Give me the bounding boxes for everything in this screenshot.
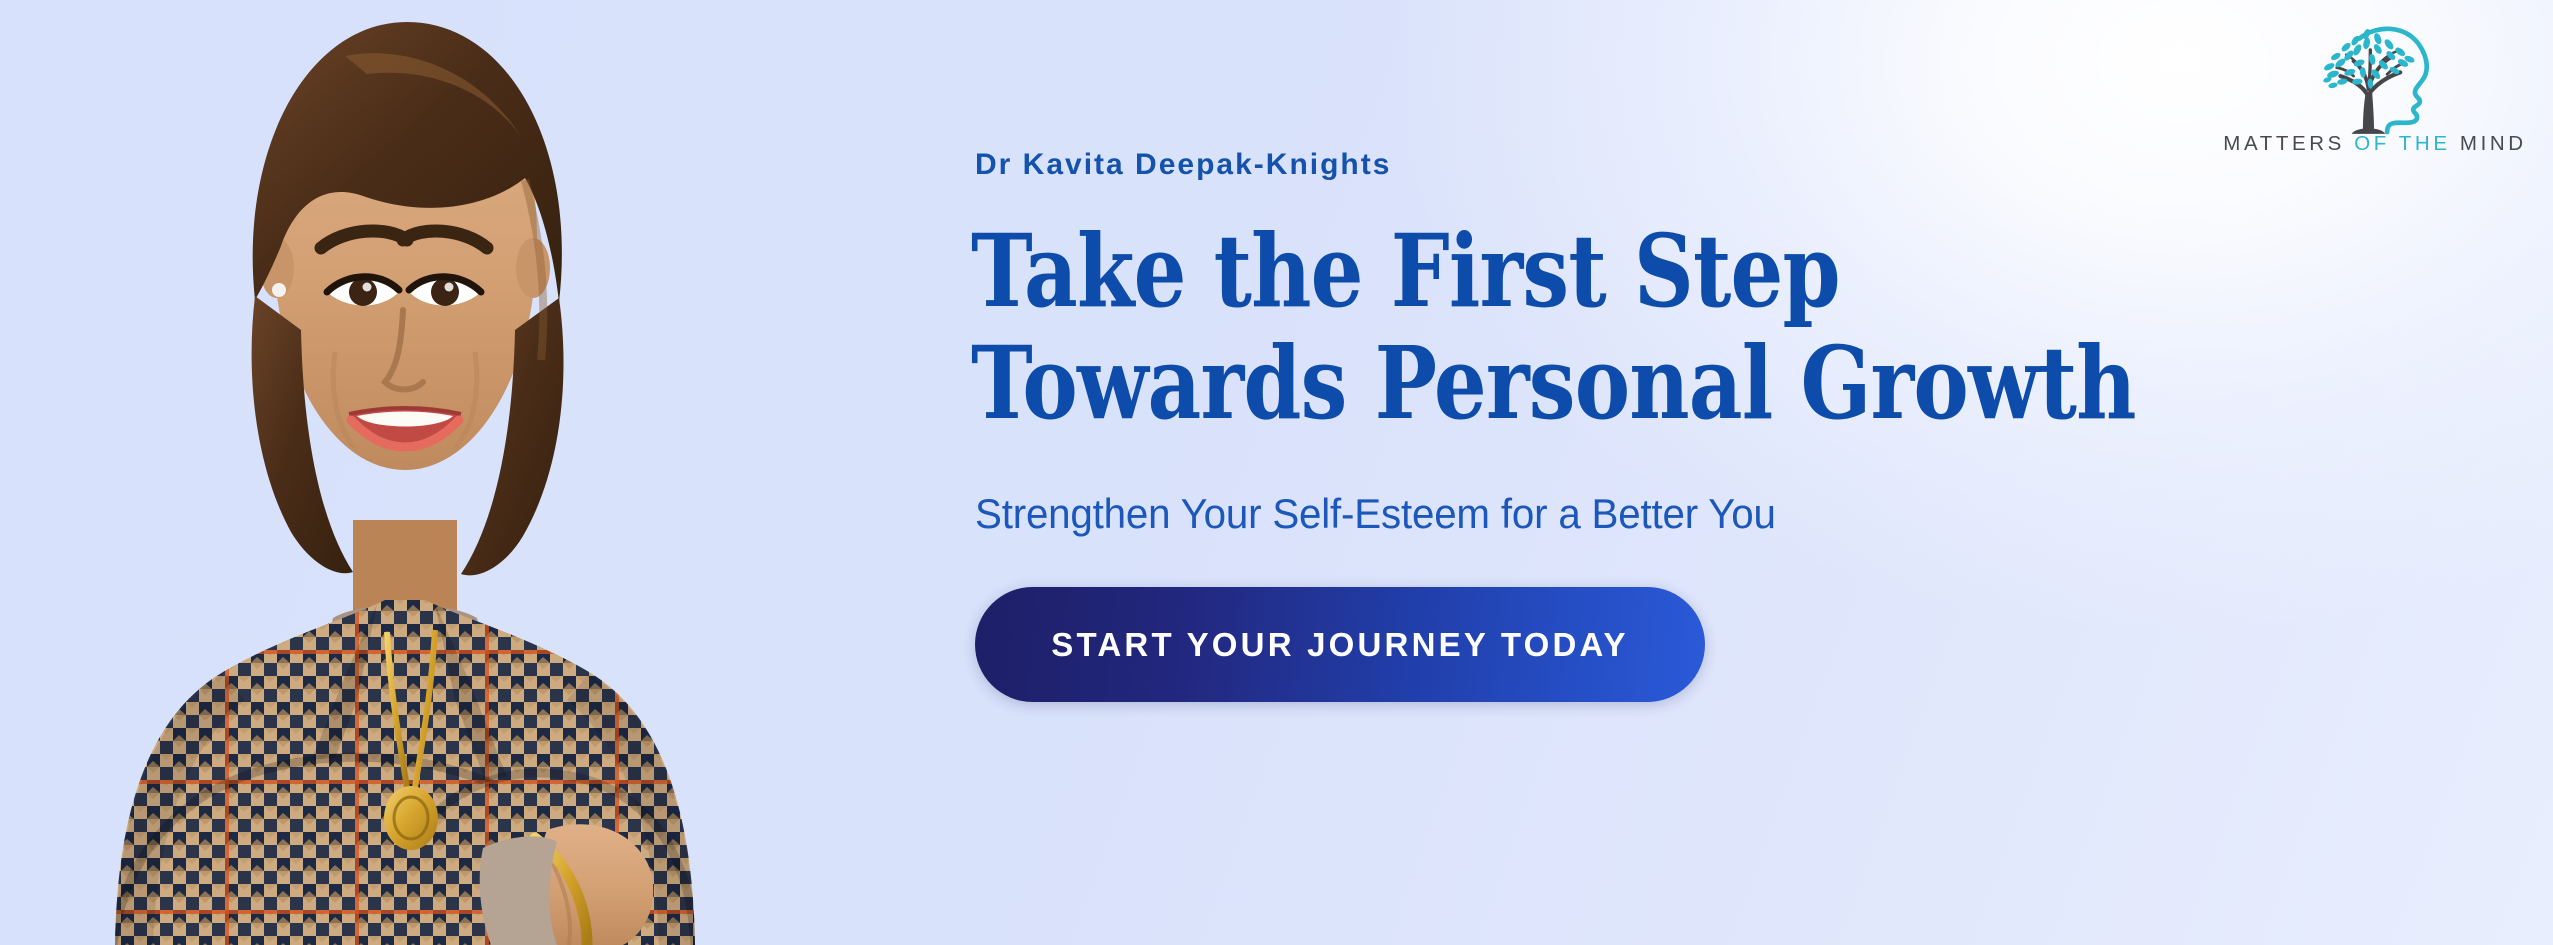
doctor-name-eyebrow: Dr Kavita Deepak-Knights	[975, 148, 1391, 182]
logo-wordmark: MATTERS OF THE MIND	[2223, 132, 2526, 156]
portrait-photo	[95, 0, 715, 945]
brand-logo[interactable]: MATTERS OF THE MIND	[2225, 18, 2525, 178]
subtitle-text: Strengthen Your Self-Esteem for a Better…	[975, 490, 1776, 538]
logo-word-of-the: OF THE	[2354, 132, 2450, 155]
head-profile-tree-icon	[2305, 18, 2445, 136]
page-title: Take the First Step Towards Personal Gro…	[971, 215, 2136, 439]
logo-word-matters: MATTERS	[2223, 132, 2345, 155]
headline-line-1: Take the First Step	[971, 215, 2136, 327]
hero-banner: Dr Kavita Deepak-Knights Take the First …	[0, 0, 2553, 945]
headline-line-2: Towards Personal Growth	[971, 327, 2136, 439]
hero-content: Dr Kavita Deepak-Knights Take the First …	[975, 0, 2275, 945]
portrait-illustration	[95, 0, 715, 945]
logo-word-mind: MIND	[2460, 132, 2527, 155]
start-your-journey-button[interactable]: START YOUR JOURNEY TODAY	[975, 587, 1705, 702]
